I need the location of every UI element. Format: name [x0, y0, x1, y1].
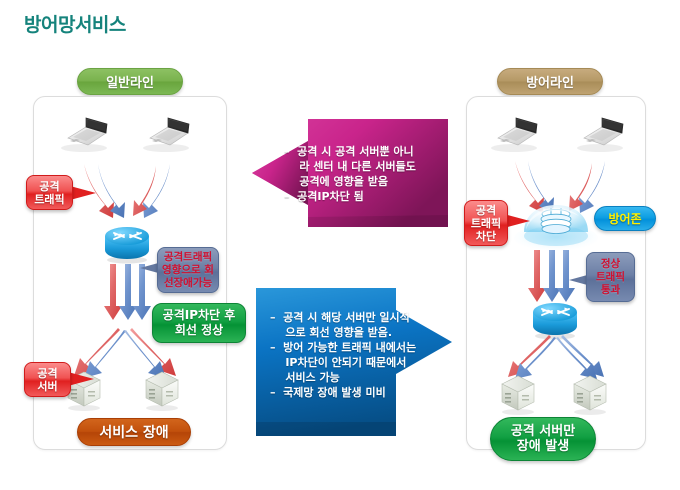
blue-arrow-text: – 공격 시 해당 서버만 일시적 으로 회선 영향을 받음. – 방어 가능한…: [270, 310, 416, 400]
blue-traffic-arrow-icon: [543, 250, 561, 302]
badge-defense-zone[interactable]: 방어존: [594, 206, 656, 231]
red-traffic-arrow-icon: [528, 250, 546, 302]
laptop-icon: [138, 114, 194, 154]
blue-traffic-arrow-icon: [561, 335, 604, 377]
callout-attack-blocked[interactable]: 공격트래픽차단: [464, 200, 508, 246]
callout-attack-server[interactable]: 공격서버: [24, 362, 71, 397]
blue-arrow-callout[interactable]: – 공격 시 해당 서버만 일시적 으로 회선 영향을 받음. – 방어 가능한…: [256, 288, 452, 436]
laptop-icon: [572, 114, 628, 154]
server-icon: [142, 368, 182, 412]
router-icon: [100, 224, 154, 264]
bubble-line-fault-label: 공격트래픽영향으로 회선장애가능: [162, 251, 214, 290]
pink-arrow-callout[interactable]: – 공격 시 공격 서버뿐 아니 라 센터 내 다른 서버들도 공격에 영향을 …: [252, 119, 448, 227]
red-traffic-arrow-icon: [104, 264, 122, 320]
blue-traffic-arrow-icon: [119, 264, 137, 320]
badge-after-ip-block[interactable]: 공격IP차단 후회선 정상: [152, 303, 246, 343]
laptop-icon: [486, 114, 542, 154]
bubble-normal-traffic[interactable]: 정상트래픽통과: [586, 252, 635, 302]
left-panel-footer-badge[interactable]: 서비스 장애: [77, 418, 191, 446]
badge-after-ip-block-label: 공격IP차단 후회선 정상: [163, 308, 236, 338]
bubble-normal-traffic-label: 정상트래픽통과: [596, 258, 625, 297]
bubble-line-fault[interactable]: 공격트래픽영향으로 회선장애가능: [157, 247, 219, 293]
red-traffic-arrow-icon: [508, 335, 551, 377]
callout-attack-traffic-label: 공격트래픽: [34, 180, 64, 206]
callout-tail: [68, 372, 94, 386]
left-panel-header-badge[interactable]: 일반라인: [77, 68, 183, 95]
server-icon: [498, 372, 538, 416]
callout-attack-server-label: 공격서버: [37, 367, 57, 393]
callout-attack-traffic[interactable]: 공격트래픽: [26, 175, 73, 210]
callout-tail: [70, 186, 96, 200]
badge-defense-zone-label: 방어존: [608, 210, 641, 227]
right-panel-footer-badge-label: 공격 서버만장애 발생: [511, 424, 575, 454]
page-title: 방어망서비스: [24, 10, 126, 37]
pink-arrow-text: – 공격 시 공격 서버뿐 아니 라 센터 내 다른 서버들도 공격에 영향을 …: [284, 144, 416, 204]
blue-traffic-arrow-icon: [143, 164, 170, 218]
laptop-icon: [56, 114, 112, 154]
server-icon: [570, 372, 610, 416]
right-panel-footer-badge[interactable]: 공격 서버만장애 발생: [490, 417, 596, 461]
callout-attack-blocked-label: 공격트래픽차단: [471, 204, 501, 243]
right-panel-header-badge[interactable]: 방어라인: [497, 68, 603, 95]
diagram-canvas: 방어망서비스: [0, 0, 680, 490]
